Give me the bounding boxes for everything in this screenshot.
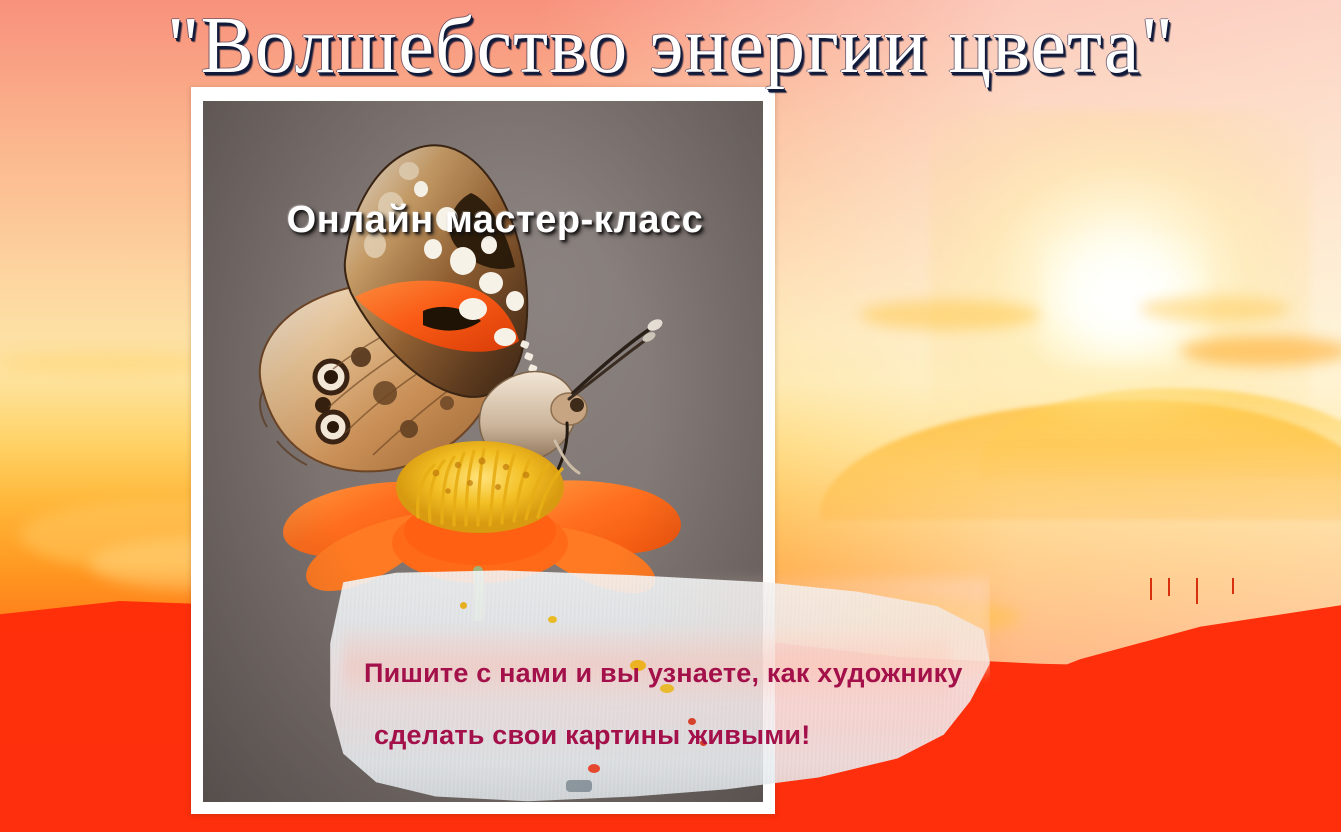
poster-canvas: Онлайн мастер-класс Пишите с нами и вы у… [0,0,1341,832]
tree-silhouette [1196,578,1198,604]
paint-speck [548,616,557,623]
tagline-line-1: Пишите с нами и вы узнаете, как художник… [364,658,963,688]
cloud-wisp [0,352,220,374]
tagline-line-2: сделать свои картины живыми! [364,704,1124,766]
page-title: "Волшебство энергии цвета" [0,0,1341,94]
cloud-streak [860,300,1040,330]
cloud-streak [1180,336,1341,366]
paint-speck [566,780,592,792]
paint-speck [460,602,467,609]
cloud-streak [1140,296,1290,322]
tree-silhouette [1232,578,1234,594]
tree-silhouette [1168,578,1170,596]
tree-silhouette [1150,578,1152,600]
tagline: Пишите с нами и вы узнаете, как художник… [364,642,1124,766]
card-subtitle: Онлайн мастер-класс [203,199,763,242]
